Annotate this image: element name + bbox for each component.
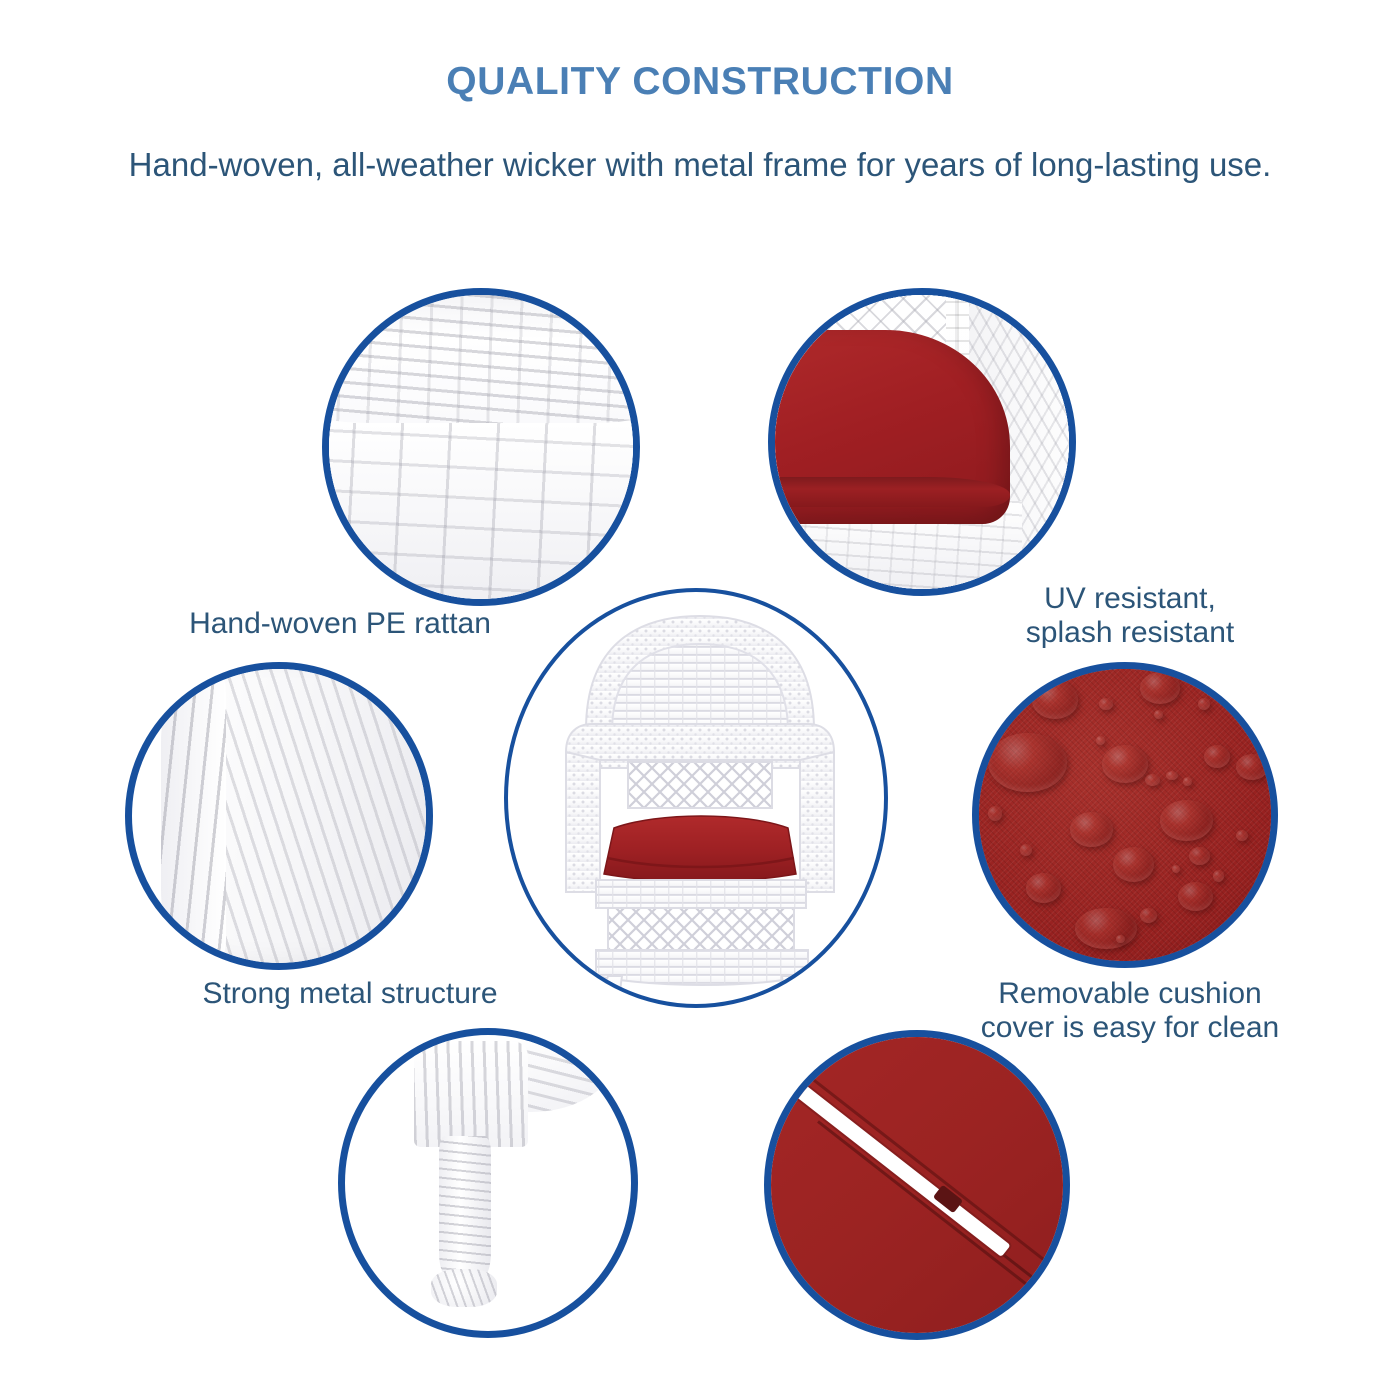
zipper-art xyxy=(771,1037,1063,1333)
caption-hand-woven-pe-rattan: Hand-woven PE rattan xyxy=(130,607,550,641)
back-lattice-trim xyxy=(628,762,772,808)
rattan-upper-weave xyxy=(322,288,640,423)
page-title: QUALITY CONSTRUCTION xyxy=(0,0,1400,104)
water-droplet xyxy=(1213,870,1225,882)
leg-upper-weave xyxy=(414,1041,528,1148)
water-droplet xyxy=(1204,745,1230,768)
seat-front-rail xyxy=(596,880,806,908)
rattan-weave-art xyxy=(329,295,633,599)
page-subtitle: Hand-woven, all-weather wicker with meta… xyxy=(0,104,1400,184)
water-droplet xyxy=(1145,774,1160,786)
water-droplet xyxy=(1172,865,1181,874)
chair-leg-front-left xyxy=(598,976,622,1006)
water-droplet xyxy=(1160,800,1213,841)
water-droplet xyxy=(988,806,1003,821)
leg-foot-right xyxy=(782,999,808,1008)
caption-removable-cushion-cover: Removable cushion cover is easy for clea… xyxy=(940,977,1320,1044)
caption-uv-splash-resistant: UV resistant, splash resistant xyxy=(955,582,1305,649)
water-droplet xyxy=(1178,882,1213,911)
caption-strong-metal-structure: Strong metal structure xyxy=(140,977,560,1011)
water-droplet xyxy=(1154,710,1163,719)
water-droplet xyxy=(1099,698,1114,710)
cushion-corner-circle-image xyxy=(768,288,1076,596)
bottom-rail xyxy=(596,950,808,985)
water-droplet xyxy=(1102,745,1149,783)
frame-corner-art xyxy=(132,669,426,963)
leg-shaft-wrap xyxy=(439,1136,490,1278)
water-droplet xyxy=(1183,777,1192,786)
water-droplet xyxy=(1198,698,1210,710)
water-droplet xyxy=(1070,812,1114,847)
arm-weave-edge xyxy=(161,675,226,957)
chair-leg-front-right xyxy=(782,976,806,1006)
full-product-circle-image xyxy=(504,588,888,1008)
cushion-welt-seam xyxy=(768,477,1010,506)
frame-corner-circle-image xyxy=(125,662,433,970)
wicker-armchair-illustration xyxy=(508,592,888,1008)
rattan-lower-weave xyxy=(322,423,640,606)
water-droplet xyxy=(1075,908,1136,949)
water-droplet xyxy=(1096,736,1105,745)
zipper-circle-image xyxy=(764,1030,1070,1340)
leg-foot-cap xyxy=(431,1269,497,1307)
lower-lattice-skirt xyxy=(608,908,794,952)
water-droplet xyxy=(1113,847,1154,882)
red-seat-cushion xyxy=(604,816,796,882)
water-droplet xyxy=(1140,908,1158,923)
water-droplet xyxy=(1032,681,1079,719)
chair-leg-circle-image xyxy=(338,1028,638,1338)
chair-right-arm-post xyxy=(800,752,834,892)
water-droplet xyxy=(988,733,1067,791)
chair-left-arm-post xyxy=(566,752,600,892)
red-fabric-texture xyxy=(979,669,1271,961)
water-droplet xyxy=(1236,754,1268,780)
header: QUALITY CONSTRUCTION Hand-woven, all-wea… xyxy=(0,0,1400,184)
water-droplet xyxy=(1020,844,1032,856)
water-droplet xyxy=(1189,847,1209,865)
leg-foot-left xyxy=(596,999,622,1008)
water-droplet xyxy=(1026,873,1061,902)
water-droplet xyxy=(1166,771,1178,780)
water-droplet xyxy=(1236,830,1248,842)
chair-leg-art xyxy=(345,1035,631,1331)
water-droplet xyxy=(1140,672,1181,704)
water-beading-circle-image xyxy=(972,662,1278,968)
rattan-weave-circle-image xyxy=(322,288,640,606)
